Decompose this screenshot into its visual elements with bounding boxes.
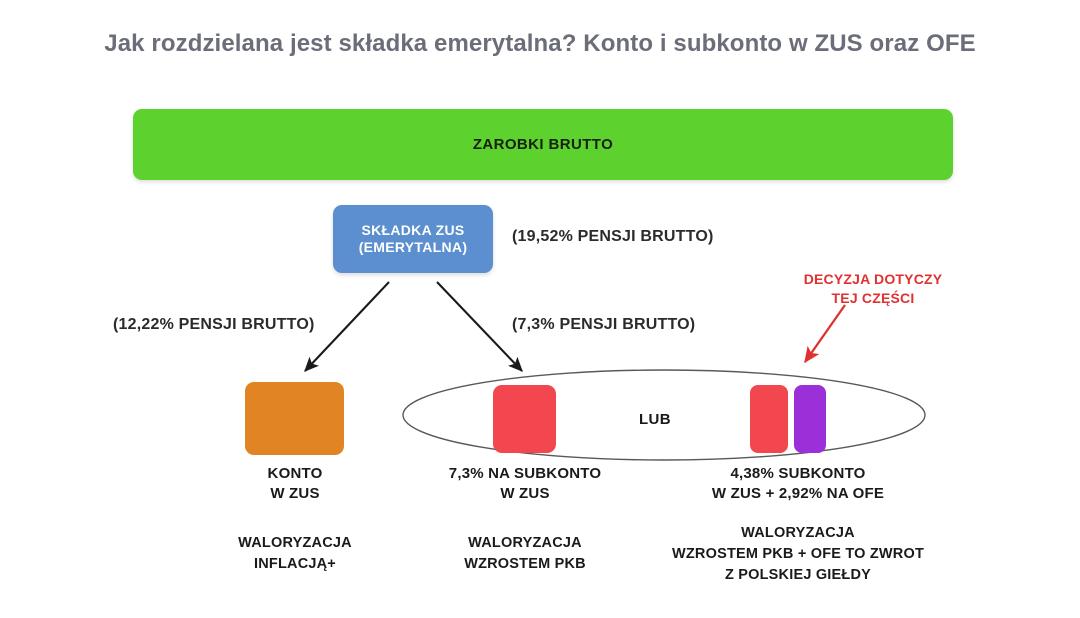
split-subaccount-box — [750, 385, 788, 453]
split-note-line1: WALORYZACJA — [640, 523, 956, 544]
right-percent-note: (7,3% PENSJI BRUTTO) — [512, 316, 695, 334]
subaccount-caption: 7,3% NA SUBKONTO W ZUS — [425, 464, 625, 504]
account-caption-line1: KONTO — [195, 464, 395, 484]
split-note-line3: Z POLSKIEJ GIEŁDY — [640, 565, 956, 586]
gross-earnings-box: ZAROBKI BRUTTO — [133, 109, 953, 180]
diagram-canvas: Jak rozdzielana jest składka emerytalna?… — [0, 0, 1080, 618]
decision-callout-arrow — [805, 305, 845, 362]
split-caption: 4,38% SUBKONTO W ZUS + 2,92% NA OFE — [688, 464, 908, 504]
arrow-to-subaccount — [437, 282, 522, 371]
account-caption: KONTO W ZUS — [195, 464, 395, 504]
left-percent-note: (12,22% PENSJI BRUTTO) — [113, 316, 315, 334]
account-note-line1: WALORYZACJA — [195, 533, 395, 554]
account-caption-line2: W ZUS — [195, 484, 395, 504]
account-box — [245, 382, 344, 455]
arrow-to-account — [305, 282, 389, 371]
account-indexation-note: WALORYZACJA INFLACJĄ+ — [195, 533, 395, 575]
subaccount-caption-line2: W ZUS — [425, 484, 625, 504]
subaccount-note-line1: WALORYZACJA — [425, 533, 625, 554]
split-note-line2: WZROSTEM PKB + OFE TO ZWROT — [640, 544, 956, 565]
zus-contribution-label-line2: (EMERYTALNA) — [359, 239, 468, 257]
zus-contribution-box: SKŁADKA ZUS (EMERYTALNA) — [333, 205, 493, 273]
decision-callout-line2: TEJ CZĘŚCI — [768, 289, 978, 308]
split-ofe-box — [794, 385, 826, 453]
subaccount-caption-line1: 7,3% NA SUBKONTO — [425, 464, 625, 484]
split-caption-line2: W ZUS + 2,92% NA OFE — [688, 484, 908, 504]
subaccount-note-line2: WZROSTEM PKB — [425, 554, 625, 575]
page-title: Jak rozdzielana jest składka emerytalna?… — [0, 30, 1080, 58]
subaccount-box — [493, 385, 556, 453]
account-note-line2: INFLACJĄ+ — [195, 554, 395, 575]
decision-callout: DECYZJA DOTYCZY TEJ CZĘŚCI — [768, 270, 978, 308]
zus-contribution-label-line1: SKŁADKA ZUS — [361, 222, 464, 240]
split-indexation-note: WALORYZACJA WZROSTEM PKB + OFE TO ZWROT … — [640, 523, 956, 586]
decision-callout-line1: DECYZJA DOTYCZY — [768, 270, 978, 289]
gross-earnings-label: ZAROBKI BRUTTO — [473, 136, 613, 153]
total-percent-note: (19,52% PENSJI BRUTTO) — [512, 228, 714, 246]
subaccount-indexation-note: WALORYZACJA WZROSTEM PKB — [425, 533, 625, 575]
split-caption-line1: 4,38% SUBKONTO — [688, 464, 908, 484]
or-label: LUB — [600, 411, 710, 428]
